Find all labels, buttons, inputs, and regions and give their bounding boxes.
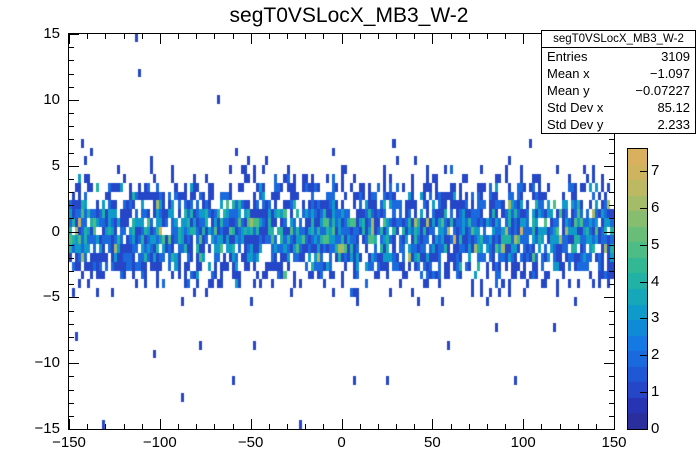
y-axis-minor-tick-right — [609, 390, 614, 391]
y-axis-major-tick — [69, 363, 79, 364]
y-axis-minor-tick-right — [609, 284, 614, 285]
y-axis-minor-tick-right — [609, 258, 614, 259]
x-axis-minor-tick — [560, 424, 561, 429]
x-axis-minor-tick-top — [414, 34, 415, 39]
x-axis-minor-tick-top — [287, 34, 288, 39]
y-axis-major-tick-right — [604, 429, 614, 430]
stats-row-value: 3109 — [661, 48, 690, 65]
x-axis-minor-tick — [505, 424, 506, 429]
x-axis-minor-tick — [287, 424, 288, 429]
y-axis-minor-tick — [69, 416, 74, 417]
y-axis-minor-tick — [69, 376, 74, 377]
y-axis-minor-tick-right — [609, 403, 614, 404]
x-axis-minor-tick — [105, 424, 106, 429]
palette-tick-label: 7 — [651, 162, 659, 179]
x-axis-major-tick-top — [69, 34, 70, 44]
y-axis-minor-tick-right — [609, 324, 614, 325]
y-axis-minor-tick-right — [609, 139, 614, 140]
palette-tick-label: 4 — [651, 273, 659, 290]
y-axis-minor-tick-right — [609, 337, 614, 338]
y-axis-tick-label: −5 — [8, 288, 60, 305]
y-axis-minor-tick-right — [609, 192, 614, 193]
y-axis-minor-tick — [69, 324, 74, 325]
x-axis-minor-tick-top — [305, 34, 306, 39]
x-axis-tick-label: 50 — [402, 434, 462, 451]
x-axis-major-tick-top — [523, 34, 524, 44]
palette-tick-label: 1 — [651, 383, 659, 400]
stats-row: Std Dev x85.12 — [542, 99, 695, 116]
x-axis-minor-tick-top — [323, 34, 324, 39]
stats-row-value: 85.12 — [657, 99, 690, 116]
x-axis-minor-tick — [305, 424, 306, 429]
y-axis-minor-tick — [69, 245, 74, 246]
y-axis-minor-tick — [69, 350, 74, 351]
x-axis-minor-tick-top — [269, 34, 270, 39]
x-axis-minor-tick — [269, 424, 270, 429]
x-axis-minor-tick-top — [87, 34, 88, 39]
y-axis-minor-tick — [69, 87, 74, 88]
y-axis-tick-label: 10 — [8, 91, 60, 108]
x-axis-major-tick — [614, 419, 615, 429]
x-axis-minor-tick-top — [233, 34, 234, 39]
y-axis-minor-tick — [69, 153, 74, 154]
palette-tick-label: 5 — [651, 236, 659, 253]
y-axis-minor-tick — [69, 403, 74, 404]
palette-tick — [640, 245, 647, 246]
palette-tick — [640, 171, 647, 172]
x-axis-major-tick-top — [432, 34, 433, 44]
y-axis-major-tick — [69, 100, 79, 101]
y-axis-tick-label: 15 — [8, 25, 60, 42]
x-axis-major-tick — [69, 419, 70, 429]
x-axis-tick-label: 150 — [584, 434, 644, 451]
y-axis-minor-tick — [69, 337, 74, 338]
palette-tick-label: 2 — [651, 346, 659, 363]
x-axis-minor-tick-top — [124, 34, 125, 39]
x-axis-minor-tick — [142, 424, 143, 429]
x-axis-minor-tick — [596, 424, 597, 429]
histogram-canvas[interactable] — [69, 34, 614, 429]
x-axis-minor-tick-top — [142, 34, 143, 39]
x-axis-major-tick — [342, 419, 343, 429]
x-axis-major-tick — [523, 419, 524, 429]
y-axis-minor-tick — [69, 192, 74, 193]
x-axis-tick-label: 100 — [493, 434, 553, 451]
x-axis-minor-tick-top — [196, 34, 197, 39]
x-axis-minor-tick — [178, 424, 179, 429]
root-canvas: segT0VSLocX_MB3_W-2 −15−10−5051015−150−1… — [0, 0, 698, 476]
x-axis-minor-tick-top — [469, 34, 470, 39]
x-axis-major-tick-top — [251, 34, 252, 44]
x-axis-minor-tick — [124, 424, 125, 429]
x-axis-minor-tick — [414, 424, 415, 429]
y-axis-minor-tick-right — [609, 218, 614, 219]
y-axis-minor-tick-right — [609, 179, 614, 180]
palette-tick — [640, 429, 647, 430]
x-axis-major-tick — [432, 419, 433, 429]
x-axis-major-tick — [251, 419, 252, 429]
y-axis-minor-tick-right — [609, 271, 614, 272]
y-axis-minor-tick-right — [609, 311, 614, 312]
x-axis-minor-tick — [487, 424, 488, 429]
stats-row-key: Mean y — [547, 82, 590, 99]
palette-tick-label: 6 — [651, 199, 659, 216]
x-axis-minor-tick — [451, 424, 452, 429]
x-axis-minor-tick — [541, 424, 542, 429]
y-axis-major-tick-right — [604, 297, 614, 298]
y-axis-major-tick-right — [604, 166, 614, 167]
color-palette — [628, 149, 647, 429]
stats-row-key: Std Dev y — [547, 116, 603, 133]
x-axis-major-tick-top — [342, 34, 343, 44]
x-axis-tick-label: 0 — [312, 434, 372, 451]
y-axis-minor-tick — [69, 139, 74, 140]
stats-row-value: 2.233 — [657, 116, 690, 133]
y-axis-minor-tick — [69, 218, 74, 219]
y-axis-major-tick — [69, 166, 79, 167]
x-axis-minor-tick-top — [360, 34, 361, 39]
y-axis-minor-tick — [69, 74, 74, 75]
x-axis-tick-label: −100 — [130, 434, 190, 451]
page-title: segT0VSLocX_MB3_W-2 — [0, 4, 698, 28]
palette-tick-label: 0 — [651, 420, 659, 437]
x-axis-minor-tick — [360, 424, 361, 429]
x-axis-minor-tick — [378, 424, 379, 429]
x-axis-minor-tick-top — [105, 34, 106, 39]
y-axis-major-tick — [69, 232, 79, 233]
stats-row-value: −1.097 — [650, 65, 690, 82]
y-axis-tick-label: 5 — [8, 157, 60, 174]
palette-tick-label: 3 — [651, 309, 659, 326]
x-axis-major-tick — [160, 419, 161, 429]
stats-row: Std Dev y2.233 — [542, 116, 695, 133]
x-axis-minor-tick — [196, 424, 197, 429]
palette-tick — [640, 355, 647, 356]
x-axis-minor-tick-top — [378, 34, 379, 39]
stats-row-key: Std Dev x — [547, 99, 603, 116]
y-axis-minor-tick-right — [609, 153, 614, 154]
y-axis-tick-label: 0 — [8, 223, 60, 240]
y-axis-major-tick — [69, 297, 79, 298]
palette-tick — [640, 318, 647, 319]
y-axis-minor-tick-right — [609, 205, 614, 206]
y-axis-minor-tick — [69, 390, 74, 391]
palette-tick — [640, 392, 647, 393]
y-axis-minor-tick-right — [609, 376, 614, 377]
y-axis-minor-tick — [69, 60, 74, 61]
stats-box-title: segT0VSLocX_MB3_W-2 — [542, 31, 695, 48]
y-axis-minor-tick-right — [609, 350, 614, 351]
x-axis-minor-tick — [233, 424, 234, 429]
y-axis-minor-tick — [69, 205, 74, 206]
y-axis-major-tick — [69, 429, 79, 430]
y-axis-minor-tick — [69, 258, 74, 259]
palette-tick — [640, 208, 647, 209]
x-axis-minor-tick — [87, 424, 88, 429]
x-axis-minor-tick — [214, 424, 215, 429]
y-axis-major-tick — [69, 34, 79, 35]
y-axis-tick-label: −10 — [8, 354, 60, 371]
y-axis-minor-tick-right — [609, 416, 614, 417]
y-axis-minor-tick — [69, 113, 74, 114]
y-axis-minor-tick — [69, 179, 74, 180]
stats-row: Mean y−0.07227 — [542, 82, 695, 99]
stats-row-value: −0.07227 — [635, 82, 690, 99]
x-axis-minor-tick-top — [396, 34, 397, 39]
y-axis-minor-tick-right — [609, 245, 614, 246]
x-axis-minor-tick-top — [178, 34, 179, 39]
x-axis-major-tick-top — [160, 34, 161, 44]
x-axis-minor-tick-top — [487, 34, 488, 39]
y-axis-major-tick-right — [604, 363, 614, 364]
y-axis-minor-tick — [69, 126, 74, 127]
stats-row-key: Entries — [547, 48, 587, 65]
x-axis-minor-tick-top — [451, 34, 452, 39]
x-axis-minor-tick — [323, 424, 324, 429]
y-axis-minor-tick — [69, 47, 74, 48]
x-axis-tick-label: −50 — [221, 434, 281, 451]
x-axis-minor-tick-top — [214, 34, 215, 39]
stats-row-key: Mean x — [547, 65, 590, 82]
x-axis-minor-tick — [396, 424, 397, 429]
y-axis-minor-tick — [69, 311, 74, 312]
palette-tick — [640, 282, 647, 283]
stats-box: segT0VSLocX_MB3_W-2 Entries3109Mean x−1.… — [541, 30, 696, 134]
stats-row: Mean x−1.097 — [542, 65, 695, 82]
y-axis-major-tick-right — [604, 232, 614, 233]
x-axis-tick-label: −150 — [39, 434, 99, 451]
stats-row: Entries3109 — [542, 48, 695, 65]
x-axis-minor-tick — [469, 424, 470, 429]
y-axis-minor-tick — [69, 284, 74, 285]
stats-rows: Entries3109Mean x−1.097Mean y−0.07227Std… — [542, 48, 695, 133]
x-axis-minor-tick-top — [505, 34, 506, 39]
x-axis-minor-tick — [578, 424, 579, 429]
y-axis-minor-tick — [69, 271, 74, 272]
